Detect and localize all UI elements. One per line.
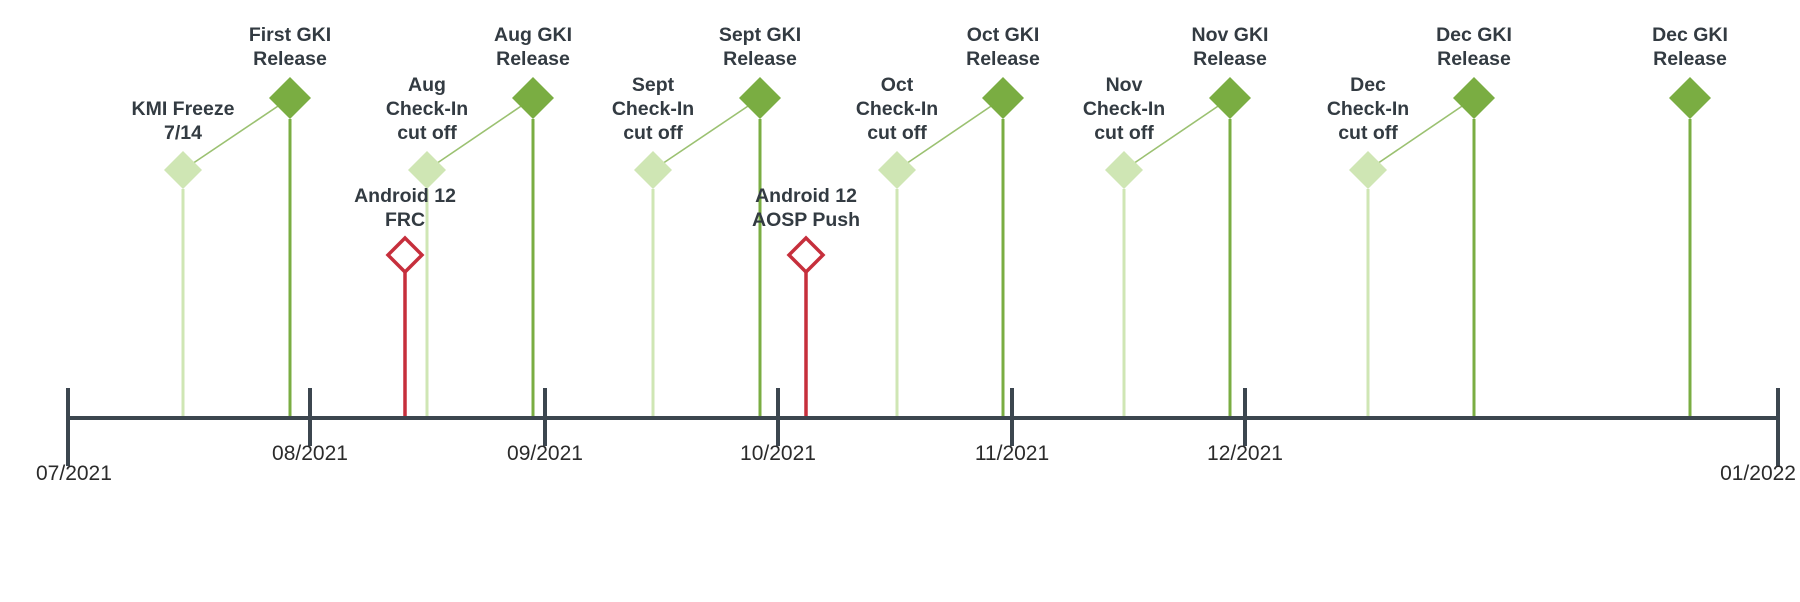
- milestone-label-dec-gki-release: Dec GKIRelease: [1436, 24, 1512, 70]
- milestone-label-line: Release: [496, 48, 570, 70]
- milestone-label-android12-frc: Android 12FRC: [354, 185, 456, 231]
- milestone-label-line: Android 12: [755, 185, 857, 207]
- milestone-label-sept-checkin: SeptCheck-Incut off: [612, 74, 694, 144]
- milestone-labels-group: KMI Freeze7/14First GKIReleaseAugCheck-I…: [132, 24, 1728, 231]
- axis-label-08-2021: 08/2021: [272, 442, 348, 465]
- milestone-label-line: Dec: [1350, 74, 1386, 96]
- axis-label-09-2021: 09/2021: [507, 442, 583, 465]
- timeline-diagram: KMI Freeze7/14First GKIReleaseAugCheck-I…: [0, 0, 1800, 602]
- milestone-label-line: Oct GKI: [967, 24, 1040, 46]
- milestone-label-line: Aug: [408, 74, 446, 96]
- milestone-label-line: Release: [966, 48, 1040, 70]
- milestone-label-line: KMI Freeze: [132, 98, 235, 120]
- milestone-label-line: cut off: [397, 122, 457, 144]
- milestone-label-line: cut off: [623, 122, 683, 144]
- milestone-label-line: Check-In: [1083, 98, 1165, 120]
- milestone-label-line: FRC: [385, 209, 425, 231]
- milestone-label-oct-gki-release: Oct GKIRelease: [966, 24, 1040, 70]
- milestone-marker-oct-checkin[interactable]: [878, 151, 916, 189]
- milestone-marker-nov-checkin[interactable]: [1105, 151, 1143, 189]
- milestone-label-oct-checkin: OctCheck-Incut off: [856, 74, 938, 144]
- milestone-marker-oct-gki-release[interactable]: [982, 77, 1024, 119]
- milestone-label-nov-checkin: NovCheck-Incut off: [1083, 74, 1165, 144]
- axis-label-01-2022: 01/2022: [1720, 462, 1796, 485]
- milestone-label-line: cut off: [1338, 122, 1398, 144]
- milestone-label-line: Nov: [1106, 74, 1143, 96]
- milestone-label-line: Dec GKI: [1436, 24, 1512, 46]
- milestone-label-kmi-freeze: KMI Freeze7/14: [132, 98, 235, 144]
- milestone-label-line: 7/14: [164, 122, 202, 144]
- milestone-marker-sept-gki-release[interactable]: [739, 77, 781, 119]
- milestone-label-line: Release: [253, 48, 327, 70]
- milestone-label-line: Nov GKI: [1192, 24, 1269, 46]
- milestone-label-line: Sept GKI: [719, 24, 801, 46]
- milestone-marker-android12-frc[interactable]: [388, 238, 422, 272]
- milestone-label-line: Android 12: [354, 185, 456, 207]
- milestone-label-line: AOSP Push: [752, 209, 860, 231]
- axis-label-07-2021: 07/2021: [36, 462, 112, 485]
- milestone-label-line: Release: [723, 48, 797, 70]
- milestone-label-line: Release: [1437, 48, 1511, 70]
- milestone-label-nov-gki-release: Nov GKIRelease: [1192, 24, 1269, 70]
- milestone-label-dec-checkin: DecCheck-Incut off: [1327, 74, 1409, 144]
- milestone-marker-kmi-freeze[interactable]: [164, 151, 202, 189]
- milestone-label-line: Check-In: [612, 98, 694, 120]
- axis-labels-group: 07/202108/202109/202110/202111/202112/20…: [36, 442, 1796, 485]
- milestone-label-dec-gki-release-2: Dec GKIRelease: [1652, 24, 1728, 70]
- axis-label-12-2021: 12/2021: [1207, 442, 1283, 465]
- timeline-svg: KMI Freeze7/14First GKIReleaseAugCheck-I…: [0, 0, 1800, 602]
- milestone-marker-aug-gki-release[interactable]: [512, 77, 554, 119]
- milestone-label-line: Check-In: [386, 98, 468, 120]
- milestone-marker-nov-gki-release[interactable]: [1209, 77, 1251, 119]
- milestone-label-line: Check-In: [856, 98, 938, 120]
- milestone-label-line: Oct: [881, 74, 914, 96]
- milestone-marker-dec-gki-release-2[interactable]: [1669, 77, 1711, 119]
- connector-lines-group: [183, 98, 1474, 170]
- milestone-marker-dec-checkin[interactable]: [1349, 151, 1387, 189]
- milestone-label-android12-aosp-push: Android 12AOSP Push: [752, 185, 860, 231]
- milestone-label-first-gki-release: First GKIRelease: [249, 24, 331, 70]
- milestone-marker-android12-aosp-push[interactable]: [789, 238, 823, 272]
- milestone-label-line: Release: [1193, 48, 1267, 70]
- milestone-label-line: Check-In: [1327, 98, 1409, 120]
- milestone-label-line: Release: [1653, 48, 1727, 70]
- milestone-label-aug-gki-release: Aug GKIRelease: [494, 24, 572, 70]
- milestone-label-line: cut off: [867, 122, 927, 144]
- milestone-label-sept-gki-release: Sept GKIRelease: [719, 24, 801, 70]
- axis-label-10-2021: 10/2021: [740, 442, 816, 465]
- axis-label-11-2021: 11/2021: [975, 442, 1049, 465]
- milestone-label-line: Sept: [632, 74, 675, 96]
- milestone-label-line: First GKI: [249, 24, 331, 46]
- milestone-marker-dec-gki-release[interactable]: [1453, 77, 1495, 119]
- milestone-label-aug-checkin: AugCheck-Incut off: [386, 74, 468, 144]
- milestone-label-line: Dec GKI: [1652, 24, 1728, 46]
- milestone-label-line: cut off: [1094, 122, 1154, 144]
- milestone-marker-first-gki-release[interactable]: [269, 77, 311, 119]
- milestone-marker-aug-checkin[interactable]: [408, 151, 446, 189]
- milestone-marker-sept-checkin[interactable]: [634, 151, 672, 189]
- milestone-label-line: Aug GKI: [494, 24, 572, 46]
